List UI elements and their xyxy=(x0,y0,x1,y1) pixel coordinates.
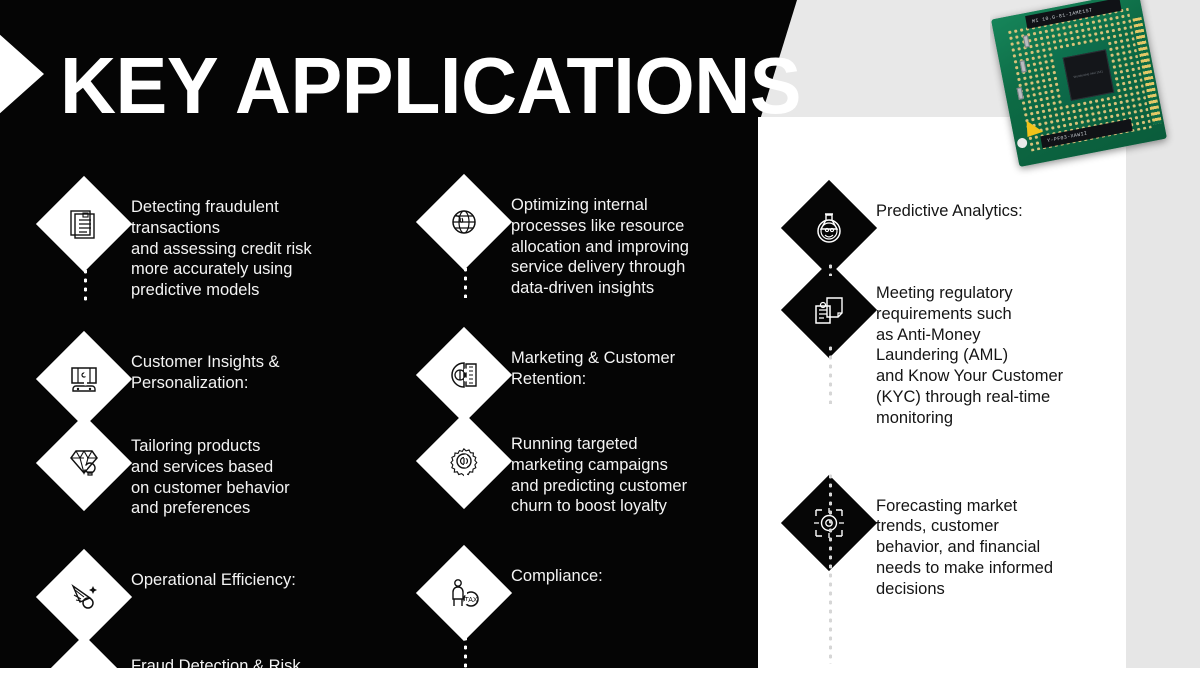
bottom-white-strip xyxy=(0,668,1200,675)
timeline-connector xyxy=(84,258,87,302)
timeline-connector xyxy=(84,566,87,584)
timeline-item[interactable]: Detecting fraudulent transactions and as… xyxy=(50,190,380,301)
diamond-cell xyxy=(795,276,865,344)
timeline-item-text: Compliance: xyxy=(500,559,750,587)
diamond-cell xyxy=(795,194,865,262)
diamond-cell xyxy=(430,188,500,256)
chip-die-label: Wonderchip Intel 1541 xyxy=(1064,51,1113,100)
timeline-connector xyxy=(84,454,87,498)
timeline-item[interactable]: TAXCompliance: xyxy=(430,559,750,627)
timeline-item[interactable]: Marketing & Customer Retention: xyxy=(430,341,750,409)
timeline-connector xyxy=(464,562,467,675)
slide-root: KEY APPLICATIONS Wonderchip Intel 1541 M… xyxy=(0,0,1200,675)
timeline-item[interactable]: Optimizing internal processes like resou… xyxy=(430,188,750,299)
timeline-item-text: Detecting fraudulent transactions and as… xyxy=(120,190,380,301)
timeline-item[interactable]: Forecasting market trends, customer beha… xyxy=(795,489,1115,600)
timeline-item-text: Meeting regulatory requirements such as … xyxy=(865,276,1115,429)
timeline-column-1: Detecting fraudulent transactions and as… xyxy=(50,190,380,675)
timeline-connector xyxy=(829,262,832,276)
timeline-item[interactable]: Predictive Analytics: xyxy=(795,194,1115,262)
timeline-column-2: Optimizing internal processes like resou… xyxy=(430,188,750,675)
timeline-item[interactable]: Operational Efficiency: xyxy=(50,563,380,631)
timeline-connector xyxy=(84,370,87,386)
timeline-item-text: Forecasting market trends, customer beha… xyxy=(865,489,1115,600)
timeline-item-text: Tailoring products and services based on… xyxy=(120,429,380,519)
documents-icon xyxy=(67,207,101,241)
timeline-connector xyxy=(464,452,467,494)
timeline-item-text: Optimizing internal processes like resou… xyxy=(500,188,750,299)
timeline-item-text: Operational Efficiency: xyxy=(120,563,380,591)
page-title: KEY APPLICATIONS xyxy=(60,44,801,128)
globe-icon xyxy=(447,205,481,239)
timeline-item-text: Running targeted marketing campaigns and… xyxy=(500,427,750,517)
timeline-connector xyxy=(829,472,832,664)
efficiency-icon xyxy=(67,580,101,614)
regulatory-doc-icon xyxy=(812,293,846,327)
timeline-item[interactable]: Customer Insights & Personalization: xyxy=(50,345,380,413)
timeline-item-text: Customer Insights & Personalization: xyxy=(120,345,380,394)
timeline-item-text: Predictive Analytics: xyxy=(865,194,1115,222)
timeline-connector xyxy=(829,344,832,404)
flask-analytics-icon xyxy=(812,211,846,245)
timeline-connector xyxy=(464,256,467,298)
timeline-item[interactable]: Meeting regulatory requirements such as … xyxy=(795,276,1115,429)
timeline-item[interactable]: Running targeted marketing campaigns and… xyxy=(430,427,750,517)
timeline-column-3: Predictive Analytics:Meeting regulatory … xyxy=(795,194,1115,675)
diamond-marker[interactable] xyxy=(36,549,132,645)
cpu-chip-image: Wonderchip Intel 1541 MI 10.G-81-IAME1S7… xyxy=(990,0,1200,190)
diamond-cell xyxy=(50,190,120,258)
timeline-item-text: Marketing & Customer Retention: xyxy=(500,341,750,390)
timeline-connector xyxy=(464,366,467,384)
timeline-item[interactable]: Tailoring products and services based on… xyxy=(50,429,380,519)
